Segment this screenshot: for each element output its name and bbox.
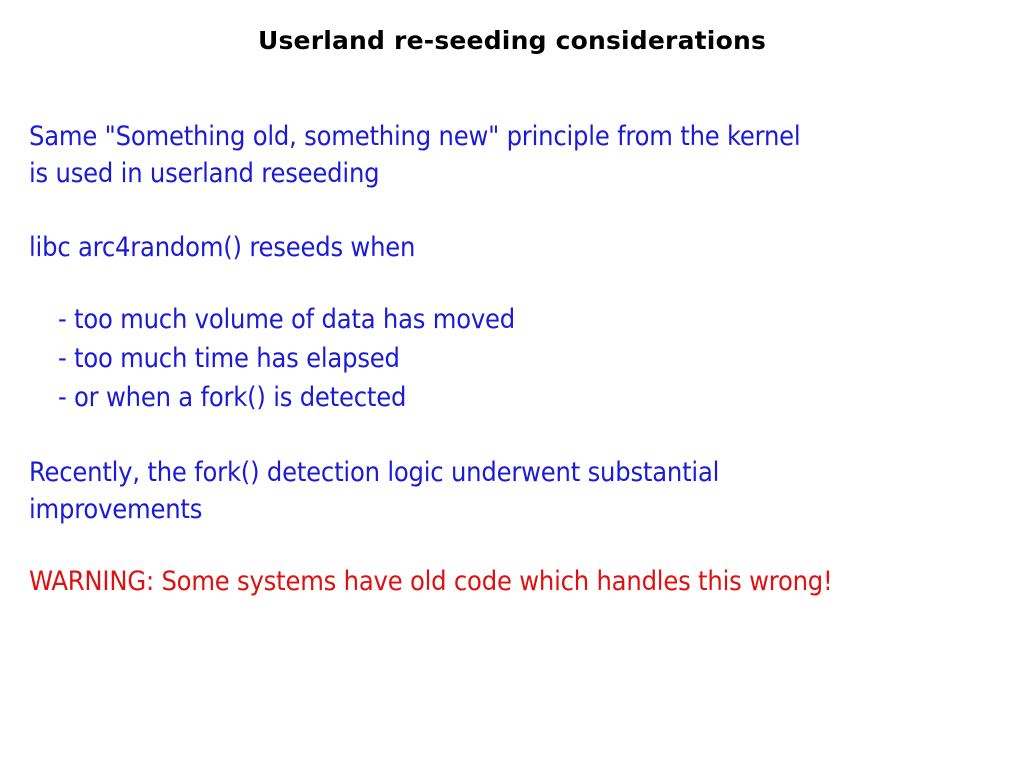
bullet-marker-icon: - xyxy=(58,378,74,417)
spacer-2 xyxy=(29,266,994,300)
slide-title: Userland re-seeding considerations xyxy=(0,26,1024,56)
list-item: -too much volume of data has moved xyxy=(58,300,994,339)
paragraph-principle-line-2: is used in userland reseeding xyxy=(29,155,994,192)
paragraph-principle-line-1: Same "Something old, something new" prin… xyxy=(29,118,994,155)
warning-notice: WARNING: Some systems have old code whic… xyxy=(29,565,994,599)
paragraph-arc4random-line-1: libc arc4random() reseeds when xyxy=(29,229,994,266)
paragraph-arc4random: libc arc4random() reseeds when xyxy=(29,229,994,266)
paragraph-fork-improvements-line-2: improvements xyxy=(29,491,994,528)
spacer-4 xyxy=(29,528,994,565)
list-item-label: too much volume of data has moved xyxy=(74,304,515,335)
bullet-marker-icon: - xyxy=(58,339,74,378)
paragraph-principle: Same "Something old, something new" prin… xyxy=(29,118,994,192)
warning-notice-text: WARNING: Some systems have old code whic… xyxy=(29,565,994,599)
paragraph-fork-improvements-line-1: Recently, the fork() detection logic und… xyxy=(29,454,994,491)
list-item-label: or when a fork() is detected xyxy=(74,382,406,413)
slide-body: Same "Something old, something new" prin… xyxy=(29,118,994,599)
bullet-marker-icon: - xyxy=(58,300,74,339)
slide-canvas: Userland re-seeding considerations Same … xyxy=(0,0,1024,768)
list-item: -or when a fork() is detected xyxy=(58,378,994,417)
spacer-1 xyxy=(29,192,994,229)
reseed-conditions-list: -too much volume of data has moved -too … xyxy=(58,300,994,417)
paragraph-fork-improvements: Recently, the fork() detection logic und… xyxy=(29,454,994,528)
spacer-3 xyxy=(29,417,994,454)
list-item: -too much time has elapsed xyxy=(58,339,994,378)
list-item-label: too much time has elapsed xyxy=(74,343,400,374)
